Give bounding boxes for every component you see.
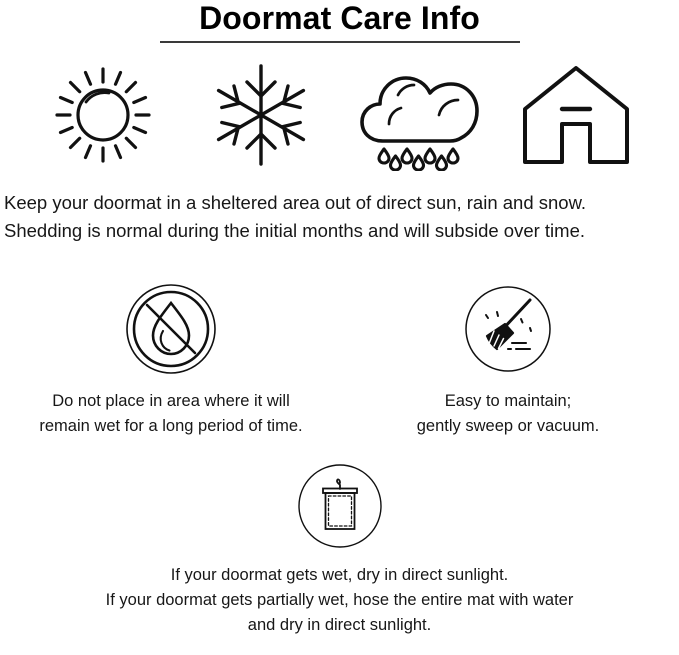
snowflake-icon [186, 55, 336, 175]
care-right-line-2: gently sweep or vacuum. [417, 414, 600, 439]
drying-line-2: If your doormat gets partially wet, hose… [106, 588, 574, 613]
intro-line-1: Keep your doormat in a sheltered area ou… [4, 189, 675, 217]
page-title: Doormat Care Info [0, 2, 679, 36]
broom-icon [464, 281, 552, 377]
care-tip-no-standing-water-text: Do not place in area where it will remai… [39, 389, 302, 439]
sun-icon [28, 55, 178, 175]
weather-icon-row [0, 43, 679, 173]
intro-paragraph: Keep your doormat in a sheltered area ou… [0, 173, 679, 245]
hanging-mat-icon [297, 460, 383, 552]
care-left-line-2: remain wet for a long period of time. [39, 414, 302, 439]
drying-instructions: If your doormat gets wet, dry in direct … [0, 460, 679, 637]
drying-line-1: If your doormat gets wet, dry in direct … [106, 563, 574, 588]
doormat-care-info-page: Doormat Care Info [0, 0, 679, 655]
care-tip-easy-maintain-text: Easy to maintain; gently sweep or vacuum… [417, 389, 600, 439]
care-tips-row: Do not place in area where it will remai… [0, 245, 679, 439]
no-water-icon [125, 281, 217, 377]
drying-line-3: and dry in direct sunlight. [106, 613, 574, 638]
rain-cloud-icon [343, 55, 493, 175]
care-right-line-1: Easy to maintain; [417, 389, 600, 414]
care-tip-easy-maintain: Easy to maintain; gently sweep or vacuum… [343, 281, 673, 439]
header: Doormat Care Info [0, 0, 679, 43]
care-left-line-1: Do not place in area where it will [39, 389, 302, 414]
intro-line-2: Shedding is normal during the initial mo… [4, 217, 675, 245]
house-icon [501, 55, 651, 175]
care-tip-no-standing-water: Do not place in area where it will remai… [6, 281, 336, 439]
drying-instructions-text: If your doormat gets wet, dry in direct … [106, 563, 574, 637]
